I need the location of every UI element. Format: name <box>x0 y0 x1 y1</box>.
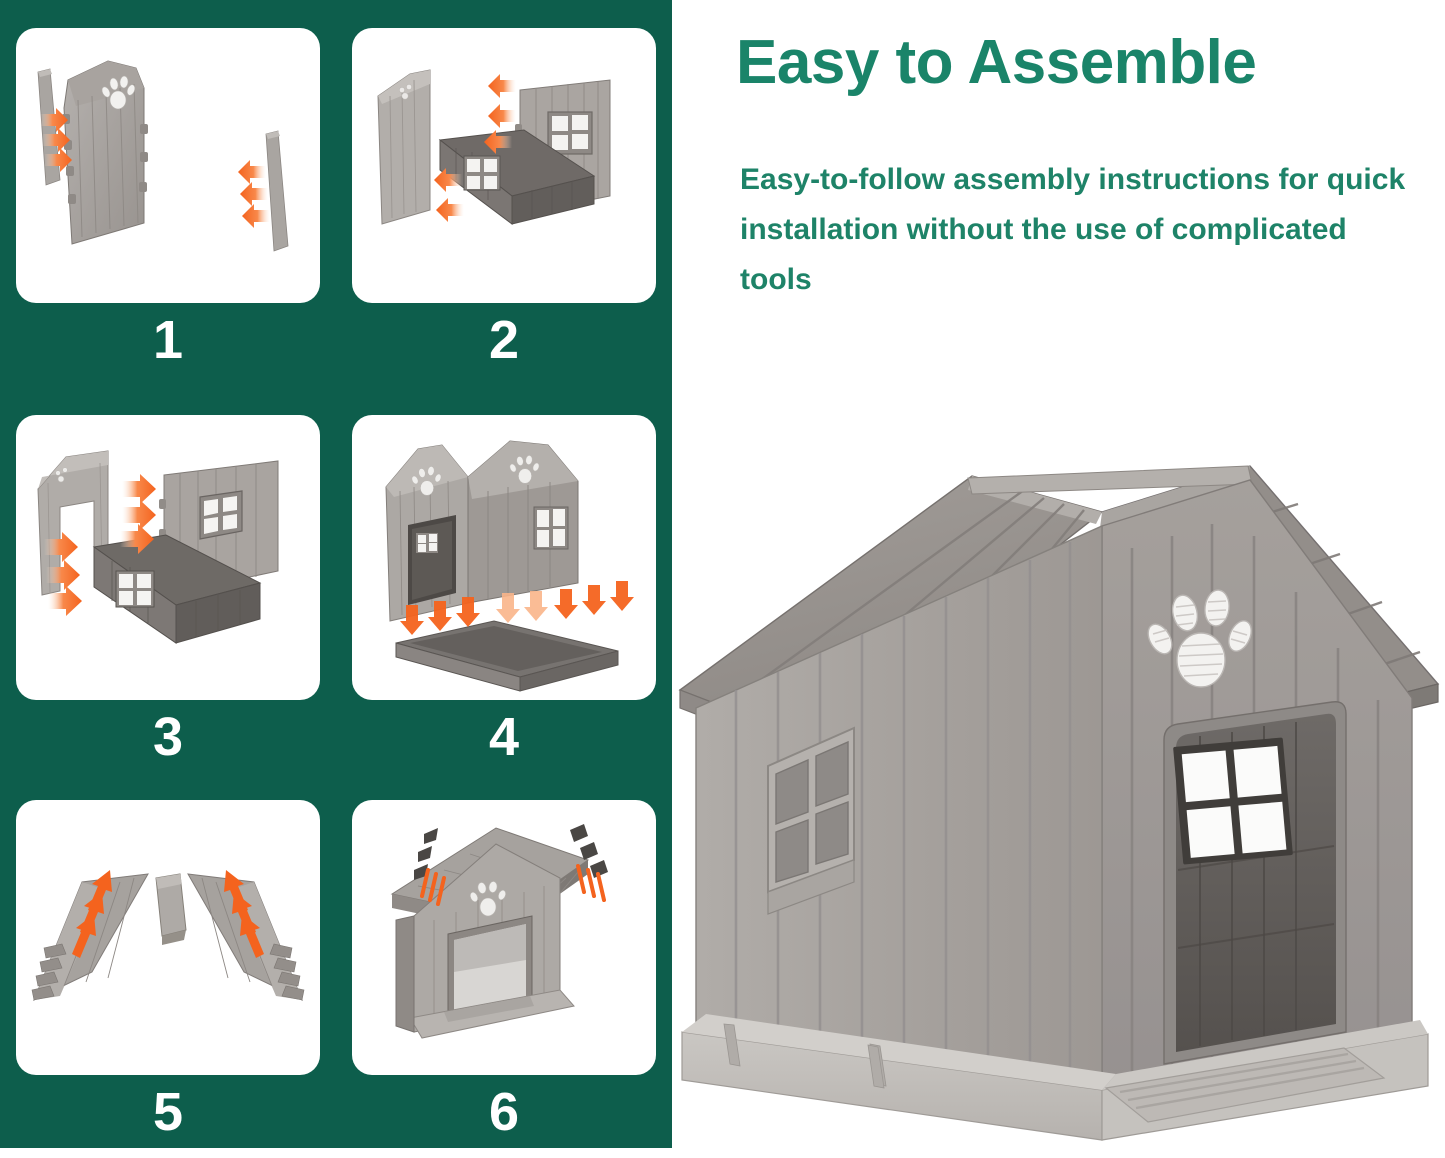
step-card-6[interactable] <box>352 800 656 1075</box>
step-card-2[interactable] <box>352 28 656 303</box>
rear-gable-panel <box>378 70 430 224</box>
step-2-illustration <box>352 28 656 303</box>
step-number-3: 3 <box>0 710 336 764</box>
window-frame <box>200 491 242 539</box>
step-number-2: 2 <box>336 313 672 367</box>
step-row-1: 1 <box>0 28 672 367</box>
window-frame <box>548 112 592 154</box>
step-card-3[interactable] <box>16 415 320 700</box>
step-cell-3: 3 <box>0 415 336 764</box>
direction-arrows-left <box>238 160 270 228</box>
step-cell-6: 6 <box>336 800 672 1139</box>
step-1-illustration <box>16 28 320 303</box>
interior-window <box>1173 737 1293 864</box>
step-cell-2: 2 <box>336 28 672 367</box>
trim-strip-right <box>266 131 288 251</box>
ridge-cap <box>156 874 186 945</box>
step-number-4: 4 <box>336 710 672 764</box>
step-row-3: 5 <box>0 800 672 1139</box>
base-tray <box>396 621 618 691</box>
step-number-1: 1 <box>0 313 336 367</box>
front-gable-panel <box>62 61 148 244</box>
doorway <box>1164 702 1346 1064</box>
dog-house-render <box>672 440 1445 1153</box>
step-card-5[interactable] <box>16 800 320 1075</box>
step-6-illustration <box>352 800 656 1075</box>
product-hero-image <box>672 440 1445 1153</box>
floor-window <box>464 156 500 190</box>
step-number-6: 6 <box>336 1085 672 1139</box>
step-card-1[interactable] <box>16 28 320 303</box>
step-4-illustration <box>352 415 656 700</box>
step-card-4[interactable] <box>352 415 656 700</box>
side-window <box>534 507 568 549</box>
roof-panel-left <box>32 874 148 1000</box>
front-window-dark <box>116 571 154 607</box>
page-title: Easy to Assemble <box>736 30 1426 97</box>
step-5-illustration <box>16 800 320 1075</box>
step-3-illustration <box>16 415 320 700</box>
step-row-2: 3 <box>0 415 672 764</box>
step-cell-1: 1 <box>0 28 336 367</box>
roof-panel-right <box>188 874 304 1000</box>
assembly-steps-panel: 1 <box>0 0 672 1148</box>
page-subtitle: Easy-to-follow assembly instructions for… <box>740 155 1420 305</box>
step-number-5: 5 <box>0 1085 336 1139</box>
step-cell-5: 5 <box>0 800 336 1139</box>
front-gable-wall <box>1102 480 1412 1100</box>
step-cell-4: 4 <box>336 415 672 764</box>
assembled-walls <box>386 441 578 621</box>
